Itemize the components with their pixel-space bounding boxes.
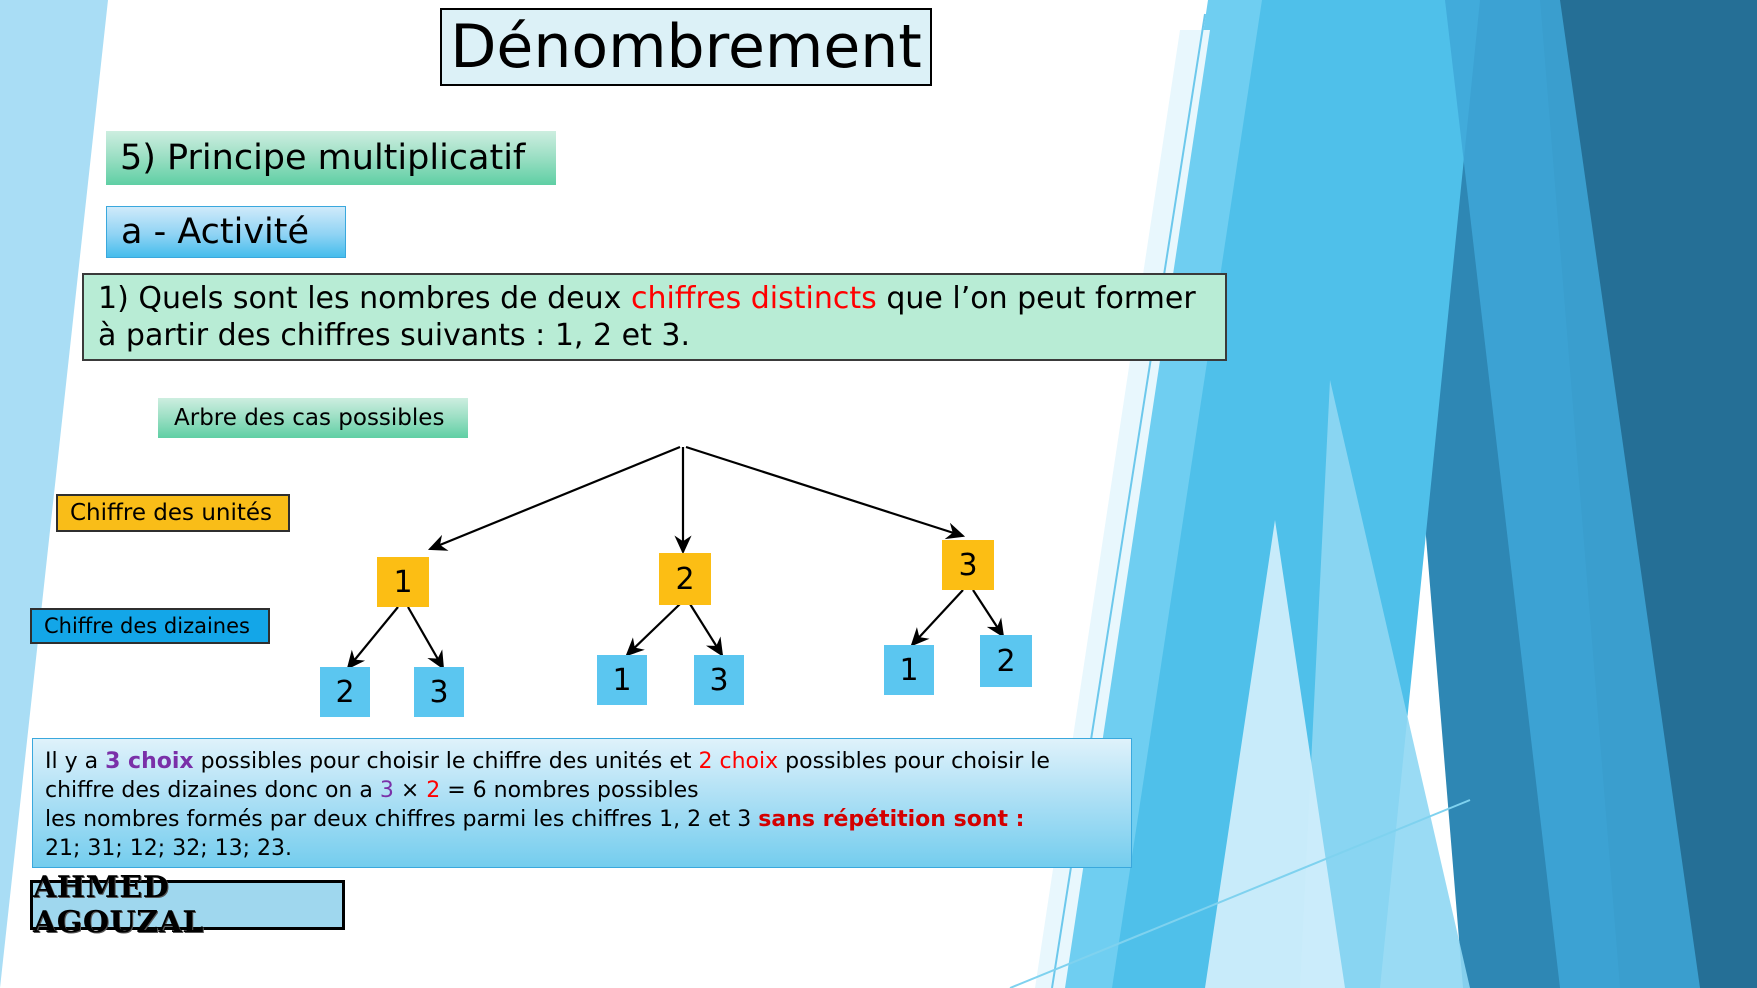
tree-node-value: 3 [958,548,977,583]
units-label-box: Chiffre des unités [56,494,290,532]
tree-node-tens-5: 1 [884,645,934,695]
tree-node-tens-3: 1 [597,655,647,705]
conclusion-factor-two: 2 [426,778,440,803]
section-heading-label: 5) Principe multiplicatif [120,138,525,178]
subsection-heading-box: a - Activité [106,206,346,258]
conclusion-line1-a: Il y a [45,749,105,774]
tree-node-value: 2 [335,675,354,710]
slide-title-box: Dénombrement [440,8,932,86]
tree-node-tens-4: 3 [694,655,744,705]
slide-canvas: Dénombrement 5) Principe multiplicatif a… [0,0,1757,988]
tree-node-units-2: 2 [659,553,711,605]
tree-node-units-1: 1 [377,557,429,607]
conclusion-line1-b: possibles pour choisir le chiffre des un… [194,749,699,774]
tree-node-value: 1 [899,653,918,688]
conclusion-choices-units: 3 choix [105,749,194,774]
tens-label-text: Chiffre des dizaines [44,614,250,638]
tree-node-value: 3 [429,675,448,710]
conclusion-text: Il y a 3 choix possibles pour choisir le… [45,747,1119,863]
tens-label-box: Chiffre des dizaines [30,608,270,644]
conclusion-line3-a: les nombres formés par deux chiffres par… [45,807,758,832]
tree-node-tens-2: 3 [414,667,464,717]
tree-node-value: 3 [709,663,728,698]
conclusion-line3-bold: sans répétition sont : [758,807,1024,832]
conclusion-line2-b: = 6 nombres possibles [440,778,698,803]
conclusion-line1-c: possibles pour choisir le [778,749,1050,774]
question-part-1: 1) Quels sont les nombres de deux [98,281,631,316]
conclusion-line2-a: chiffre des dizaines donc on a [45,778,380,803]
conclusion-box: Il y a 3 choix possibles pour choisir le… [32,738,1132,868]
conclusion-times-symbol: × [394,778,426,803]
tree-caption-box: Arbre des cas possibles [158,398,468,438]
question-highlight: chiffres distincts [631,281,877,316]
tree-node-units-3: 3 [942,540,994,590]
conclusion-line4: 21; 31; 12; 32; 13; 23. [45,836,292,861]
conclusion-factor-three: 3 [380,778,394,803]
tree-node-tens-1: 2 [320,667,370,717]
tree-node-value: 2 [996,644,1015,679]
page-title: Dénombrement [450,17,922,77]
tree-caption-label: Arbre des cas possibles [174,405,444,431]
tree-node-tens-6: 2 [980,635,1032,687]
author-signature-box: AHMED AGOUZAL [30,880,345,930]
author-signature-text: AHMED AGOUZAL [33,870,342,940]
subsection-heading-label: a - Activité [121,212,309,252]
tree-node-value: 2 [675,562,694,597]
section-heading-box: 5) Principe multiplicatif [106,131,556,185]
tree-node-value: 1 [393,565,412,600]
question-text: 1) Quels sont les nombres de deux chiffr… [98,281,1196,353]
question-box: 1) Quels sont les nombres de deux chiffr… [82,273,1227,361]
conclusion-choices-tens: 2 choix [699,749,779,774]
units-label-text: Chiffre des unités [70,500,272,526]
tree-node-value: 1 [612,663,631,698]
